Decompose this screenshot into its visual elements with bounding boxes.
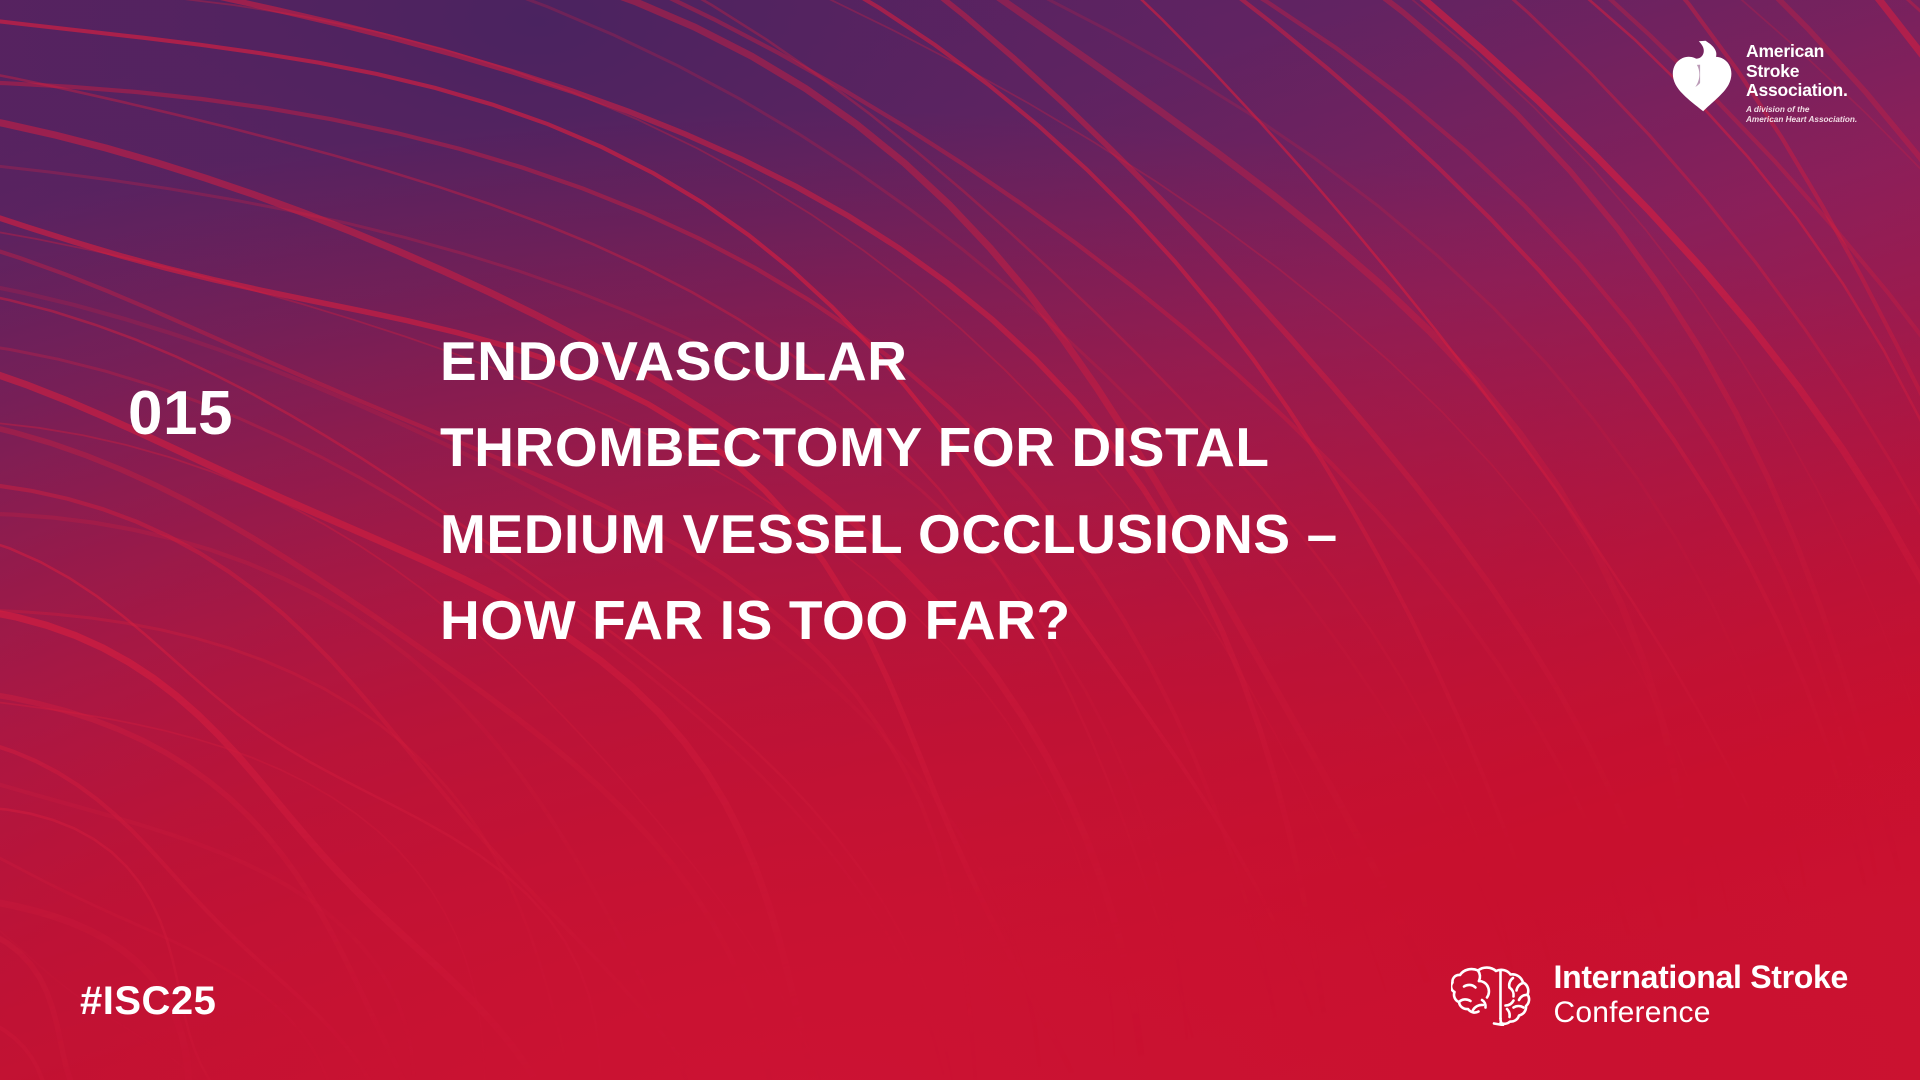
session-title-slide: American Stroke Association. A division … — [0, 0, 1920, 1080]
isc-title-line-2: Conference — [1553, 998, 1848, 1028]
american-stroke-association-logo: American Stroke Association. A division … — [1672, 38, 1857, 125]
asa-tagline-line-1: A division of the — [1746, 105, 1857, 115]
asa-name-line-1: American — [1746, 42, 1857, 62]
session-number: 015 — [128, 383, 233, 445]
asa-name-line-3: Association. — [1746, 81, 1857, 101]
heart-torch-icon — [1672, 40, 1734, 112]
isc-wordmark: International Stroke Conference — [1553, 961, 1848, 1028]
event-hashtag: #ISC25 — [80, 979, 216, 1024]
session-title-line-4: HOW FAR IS TOO FAR? — [440, 577, 1500, 663]
session-title: ENDOVASCULAR THROMBECTOMY FOR DISTAL MED… — [440, 318, 1500, 663]
isc-title-line-1: International Stroke — [1553, 961, 1848, 993]
international-stroke-conference-logo: International Stroke Conference — [1451, 961, 1848, 1028]
session-title-line-1: ENDOVASCULAR — [440, 318, 1500, 404]
asa-name-line-2: Stroke — [1746, 62, 1857, 82]
brain-icon — [1451, 964, 1537, 1026]
asa-tagline-line-2: American Heart Association. — [1746, 115, 1857, 125]
session-title-line-2: THROMBECTOMY FOR DISTAL — [440, 404, 1500, 490]
session-title-line-3: MEDIUM VESSEL OCCLUSIONS – — [440, 491, 1500, 577]
asa-wordmark: American Stroke Association. A division … — [1746, 38, 1857, 125]
